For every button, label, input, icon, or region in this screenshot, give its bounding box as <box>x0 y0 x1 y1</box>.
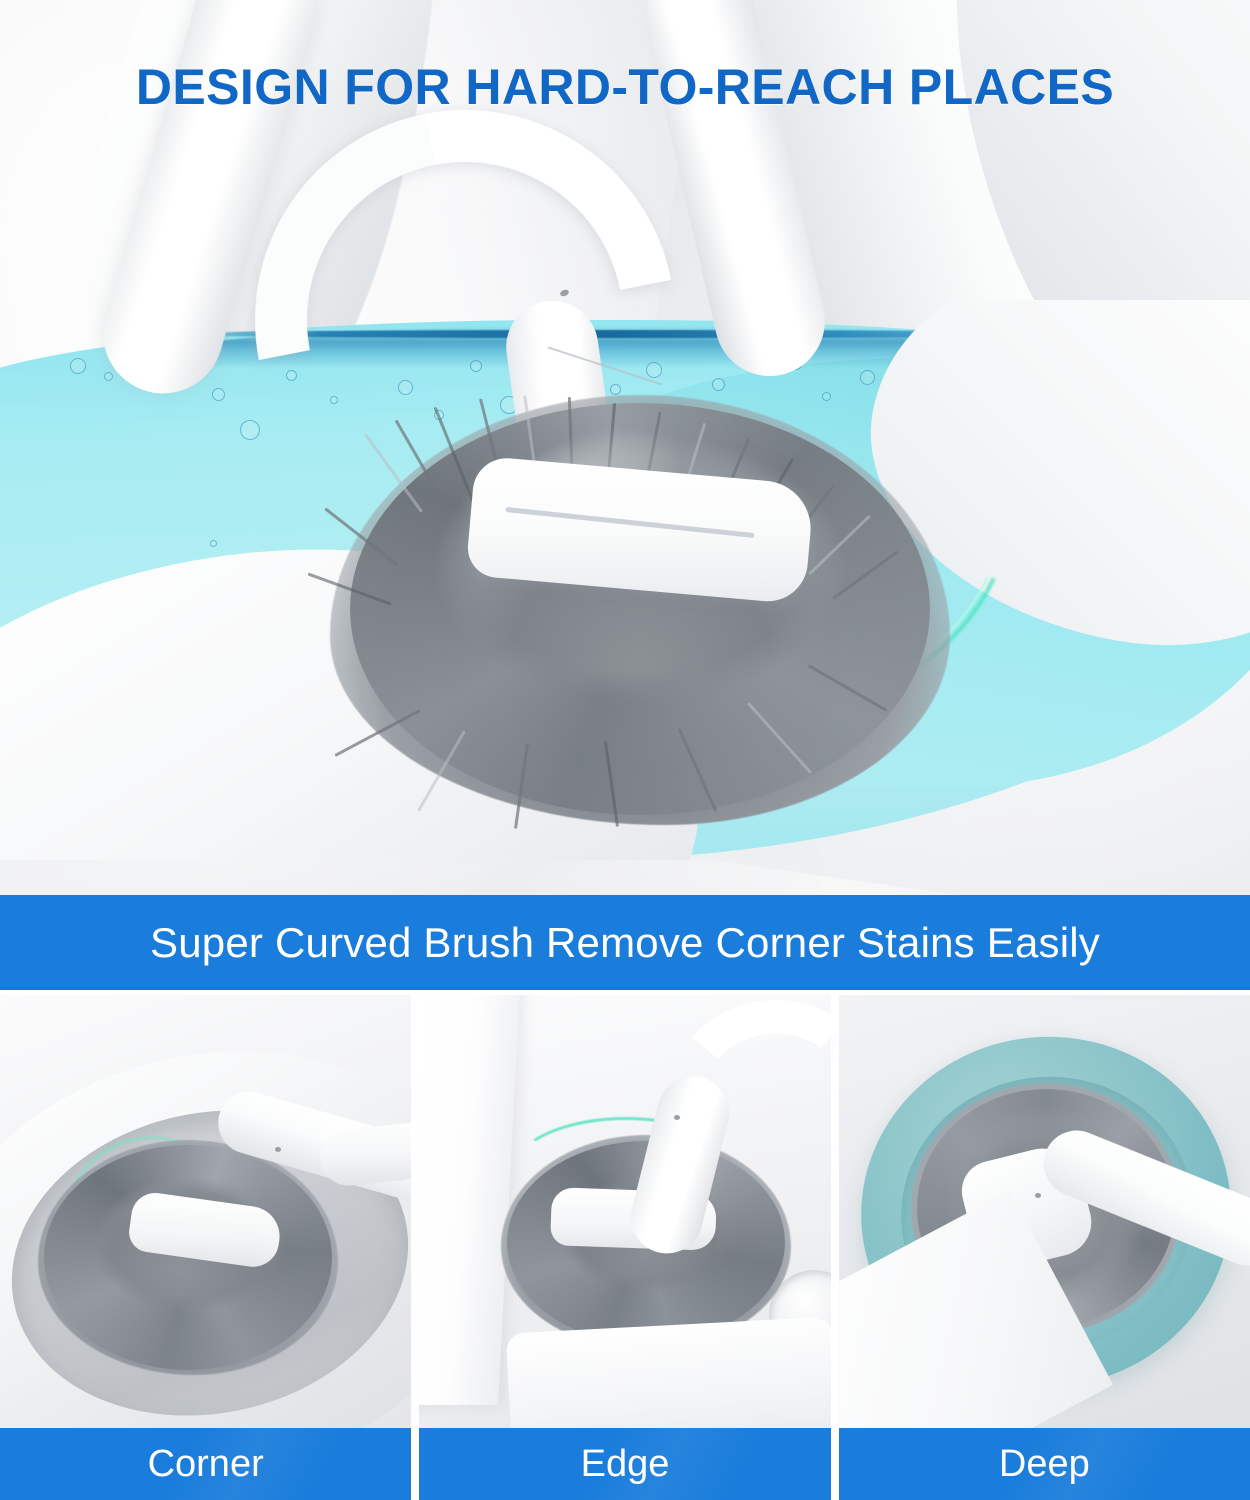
bubble-icon <box>70 358 86 374</box>
panel-deep-label: Deep <box>999 1443 1090 1486</box>
brush-bristles <box>330 395 950 825</box>
panel-corner-label-bar: Corner <box>0 1428 411 1500</box>
brush-handle-vent-hole <box>1035 1193 1041 1198</box>
hero-image: DESIGN FOR HARD-TO-REACH PLACES <box>0 0 1250 895</box>
page-title: DESIGN FOR HARD-TO-REACH PLACES <box>0 58 1250 116</box>
use-case-panels: Corner Edge <box>0 995 1250 1500</box>
bubble-icon <box>712 378 725 391</box>
bubble-icon <box>860 370 875 385</box>
panel-deep-label-bar: Deep <box>839 1428 1250 1500</box>
panel-corner-label: Corner <box>148 1443 264 1486</box>
bowl-base-ledge <box>506 1316 831 1428</box>
brush-handle-vent-hole <box>275 1147 281 1152</box>
panel-edge-label-bar: Edge <box>419 1428 830 1500</box>
panel-deep[interactable]: Deep <box>839 995 1250 1500</box>
bubble-icon <box>240 420 260 440</box>
panel-deep-image <box>839 995 1250 1428</box>
panel-corner[interactable]: Corner <box>0 995 411 1500</box>
bubble-icon <box>104 372 113 381</box>
panel-edge-image <box>419 995 830 1428</box>
product-infographic: DESIGN FOR HARD-TO-REACH PLACES Super Cu… <box>0 0 1250 1500</box>
bubble-icon <box>212 388 225 401</box>
tagline-text: Super Curved Brush Remove Corner Stains … <box>150 919 1100 967</box>
tagline-banner: Super Curved Brush Remove Corner Stains … <box>0 895 1250 990</box>
bubble-icon <box>210 540 217 547</box>
panel-corner-image <box>0 995 411 1428</box>
panel-edge-label: Edge <box>581 1443 670 1486</box>
panel-edge[interactable]: Edge <box>419 995 830 1500</box>
